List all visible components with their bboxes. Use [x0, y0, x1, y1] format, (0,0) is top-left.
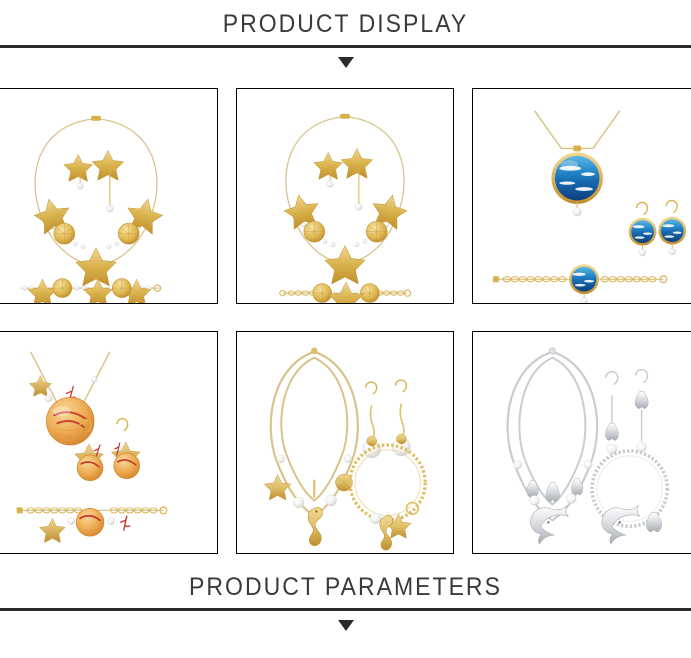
product-display-heading: PRODUCT DISPLAY [0, 9, 691, 68]
caret-down-icon [338, 620, 354, 631]
product-image-silver-dolphin-set [473, 332, 691, 553]
product-cell-4[interactable] [0, 331, 218, 554]
product-image-gold-starfish-set-a [0, 89, 217, 303]
section-title: PRODUCT PARAMETERS [28, 572, 664, 602]
product-image-ocean-blue-cabochon-set [473, 89, 691, 303]
product-image-gold-starfish-set-b [237, 89, 453, 303]
product-image-gold-seahorse-set [237, 332, 453, 553]
product-image-orange-shell-cabochon-set [0, 332, 217, 553]
product-parameters-heading: PRODUCT PARAMETERS [0, 572, 691, 631]
page-title: PRODUCT DISPLAY [28, 9, 664, 39]
product-cell-6[interactable] [472, 331, 691, 554]
product-cell-3[interactable] [472, 88, 691, 304]
product-cell-1[interactable] [0, 88, 218, 304]
heading-divider [0, 608, 691, 611]
caret-down-icon [338, 57, 354, 68]
product-cell-5[interactable] [236, 331, 454, 554]
heading-divider [0, 45, 691, 48]
product-cell-2[interactable] [236, 88, 454, 304]
